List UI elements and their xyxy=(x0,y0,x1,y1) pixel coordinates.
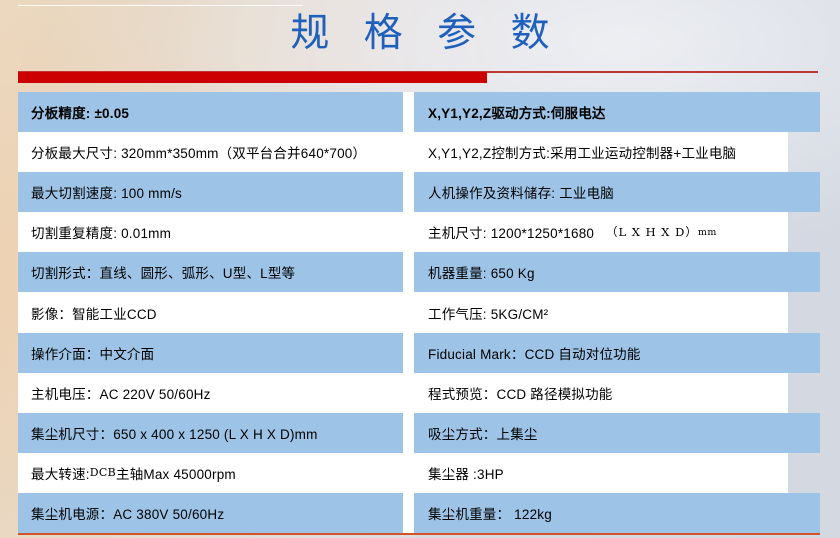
spec-text: 切割重复精度: 0.01mm xyxy=(31,222,171,242)
spec-text: 最大转速: xyxy=(31,463,90,483)
specifications-table: 分板精度: ±0.05X,Y1,Y2,Z驱动方式:伺服电达分板最大尺寸: 320… xyxy=(18,92,820,533)
spec-cell-right: 吸尘方式：上集尘 xyxy=(414,413,820,453)
spec-text: X,Y1,Y2,Z控制方式:采用工业运动控制器+工业电脑 xyxy=(428,142,736,162)
top-hairline-streak xyxy=(18,5,303,6)
spec-cell-left: 集尘机尺寸：650 x 400 x 1250 (L X H X D)mm xyxy=(18,413,403,453)
column-divider xyxy=(403,252,414,292)
table-row: 集尘机尺寸：650 x 400 x 1250 (L X H X D)mm吸尘方式… xyxy=(18,413,820,453)
spec-cell-right: 人机操作及资料储存: 工业电脑 xyxy=(414,172,820,212)
column-divider xyxy=(403,92,414,132)
spec-code-label: DCB xyxy=(90,466,116,479)
spec-text: 机器重量: 650 Kg xyxy=(428,262,535,282)
table-row: 操作介面：中文介面Fiducial Mark：CCD 自动对位功能 xyxy=(18,333,820,373)
spec-cell-left: 集尘机电源：AC 380V 50/60Hz xyxy=(18,493,403,533)
table-row: 分板最大尺寸: 320mm*350mm（双平台合并640*700）X,Y1,Y2… xyxy=(18,132,788,172)
spec-dimension-unit: mm xyxy=(698,227,717,238)
table-row: 分板精度: ±0.05X,Y1,Y2,Z驱动方式:伺服电达 xyxy=(18,92,820,132)
spec-cell-right: Fiducial Mark：CCD 自动对位功能 xyxy=(414,333,820,373)
table-row: 切割重复精度: 0.01mm主机尺寸: 1200*1250*1680 （L X … xyxy=(18,212,788,252)
table-row: 切割形式：直线、圆形、弧形、U型、L型等机器重量: 650 Kg xyxy=(18,252,820,292)
spec-cell-right: 集尘器 :3HP xyxy=(414,453,788,493)
spec-text: 影像：智能工业CCD xyxy=(31,303,157,323)
spec-cell-right: X,Y1,Y2,Z驱动方式:伺服电达 xyxy=(414,92,820,132)
spec-cell-left: 切割重复精度: 0.01mm xyxy=(18,212,403,252)
column-divider xyxy=(403,132,414,172)
spec-text: 人机操作及资料储存: 工业电脑 xyxy=(428,182,614,202)
spec-cell-left: 分板精度: ±0.05 xyxy=(18,92,403,132)
page-title: 规 格 参 数 xyxy=(279,8,560,60)
spec-text: 吸尘方式：上集尘 xyxy=(428,423,538,443)
spec-text: 主机尺寸: 1200*1250*1680 xyxy=(428,222,594,242)
spec-text: 程式预览：CCD 路径模拟功能 xyxy=(428,383,613,403)
spec-text: 分板最大尺寸: 320mm*350mm（双平台合并640*700） xyxy=(31,142,366,162)
spec-cell-right: X,Y1,Y2,Z控制方式:采用工业运动控制器+工业电脑 xyxy=(414,132,788,172)
spec-text: 集尘器 :3HP xyxy=(428,463,504,483)
column-divider xyxy=(403,493,414,533)
spec-cell-left: 最大转速: DCB主轴Max 45000rpm xyxy=(18,453,403,493)
table-row: 最大切割速度: 100 mm/s人机操作及资料储存: 工业电脑 xyxy=(18,172,820,212)
spec-cell-left: 最大切割速度: 100 mm/s xyxy=(18,172,403,212)
column-divider xyxy=(403,172,414,212)
spec-text: 主机电压：AC 220V 50/60Hz xyxy=(31,383,211,403)
spec-dimension-annotation: （L X H X D） xyxy=(606,224,698,240)
spec-spacer xyxy=(594,225,606,240)
spec-text: 集尘机尺寸：650 x 400 x 1250 (L X H X D)mm xyxy=(31,423,318,443)
spec-text: 操作介面：中文介面 xyxy=(31,343,154,363)
column-divider xyxy=(403,373,414,413)
footer-rule xyxy=(18,533,820,535)
spec-text: X,Y1,Y2,Z驱动方式:伺服电达 xyxy=(428,102,606,122)
header-rule-thick xyxy=(18,72,487,83)
spec-cell-right: 主机尺寸: 1200*1250*1680 （L X H X D）mm xyxy=(414,212,788,252)
spec-text: 集尘机电源：AC 380V 50/60Hz xyxy=(31,503,224,523)
spec-text: 切割形式：直线、圆形、弧形、U型、L型等 xyxy=(31,262,295,282)
column-divider xyxy=(403,413,414,453)
table-row: 影像：智能工业CCD工作气压: 5KG/CM² xyxy=(18,292,788,332)
spec-cell-left: 主机电压：AC 220V 50/60Hz xyxy=(18,373,403,413)
column-divider xyxy=(403,333,414,373)
spec-text: 集尘机重量： 122kg xyxy=(428,503,552,523)
table-row: 集尘机电源：AC 380V 50/60Hz集尘机重量： 122kg xyxy=(18,493,820,533)
spec-cell-left: 影像：智能工业CCD xyxy=(18,292,403,332)
column-divider xyxy=(403,292,414,332)
spec-text: 主轴Max 45000rpm xyxy=(116,463,236,483)
page-title-container: 规 格 参 数 xyxy=(0,8,840,60)
spec-text: 工作气压: 5KG/CM² xyxy=(428,303,548,323)
spec-cell-right: 工作气压: 5KG/CM² xyxy=(414,292,788,332)
spec-cell-right: 程式预览：CCD 路径模拟功能 xyxy=(414,373,788,413)
spec-text: 分板精度: ±0.05 xyxy=(31,102,129,122)
table-row: 最大转速: DCB主轴Max 45000rpm集尘器 :3HP xyxy=(18,453,788,493)
spec-text: 最大切割速度: 100 mm/s xyxy=(31,182,182,202)
spec-cell-left: 分板最大尺寸: 320mm*350mm（双平台合并640*700） xyxy=(18,132,403,172)
spec-cell-left: 切割形式：直线、圆形、弧形、U型、L型等 xyxy=(18,252,403,292)
spec-text: Fiducial Mark：CCD 自动对位功能 xyxy=(428,343,641,363)
spec-cell-right: 机器重量: 650 Kg xyxy=(414,252,820,292)
spec-cell-right: 集尘机重量： 122kg xyxy=(414,493,820,533)
table-row: 主机电压：AC 220V 50/60Hz程式预览：CCD 路径模拟功能 xyxy=(18,373,788,413)
spec-cell-left: 操作介面：中文介面 xyxy=(18,333,403,373)
column-divider xyxy=(403,453,414,493)
column-divider xyxy=(403,212,414,252)
